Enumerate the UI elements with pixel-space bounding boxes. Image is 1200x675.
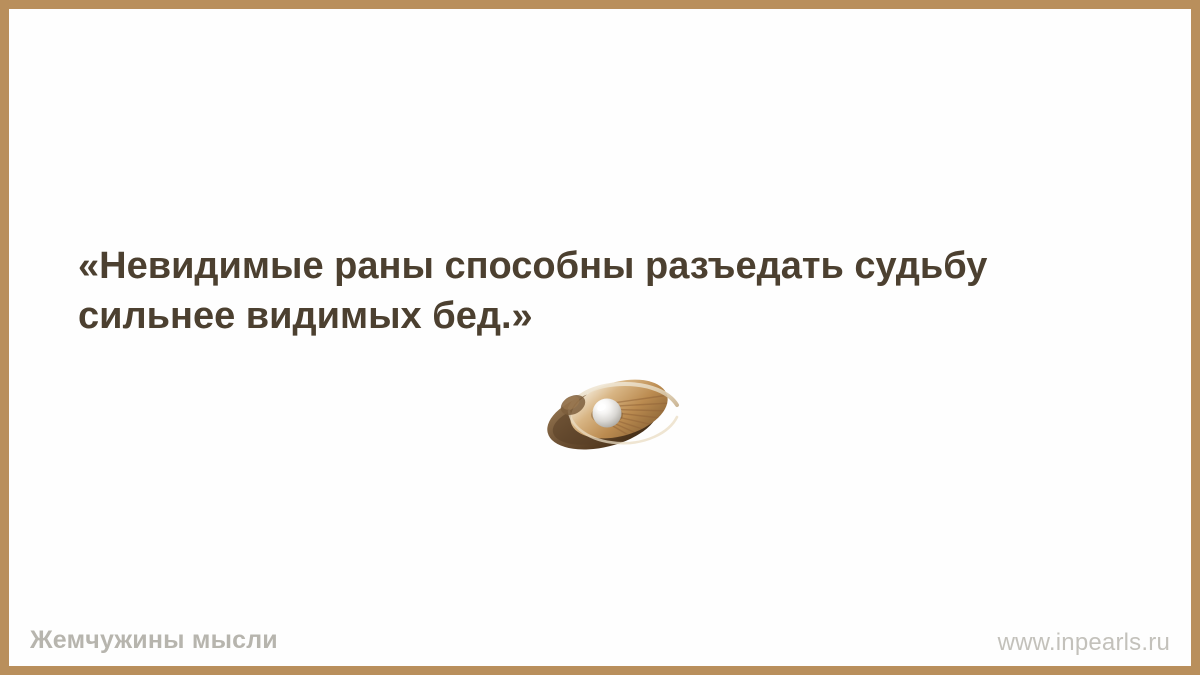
quote-text: «Невидимые раны способны разъедать судьб… <box>78 241 1153 341</box>
oyster-shell-with-pearl-icon <box>537 375 683 451</box>
brand-label: Жемчужины мысли <box>30 626 278 655</box>
quote-card: «Невидимые раны способны разъедать судьб… <box>0 0 1200 675</box>
website-link[interactable]: www.inpearls.ru <box>998 629 1170 657</box>
